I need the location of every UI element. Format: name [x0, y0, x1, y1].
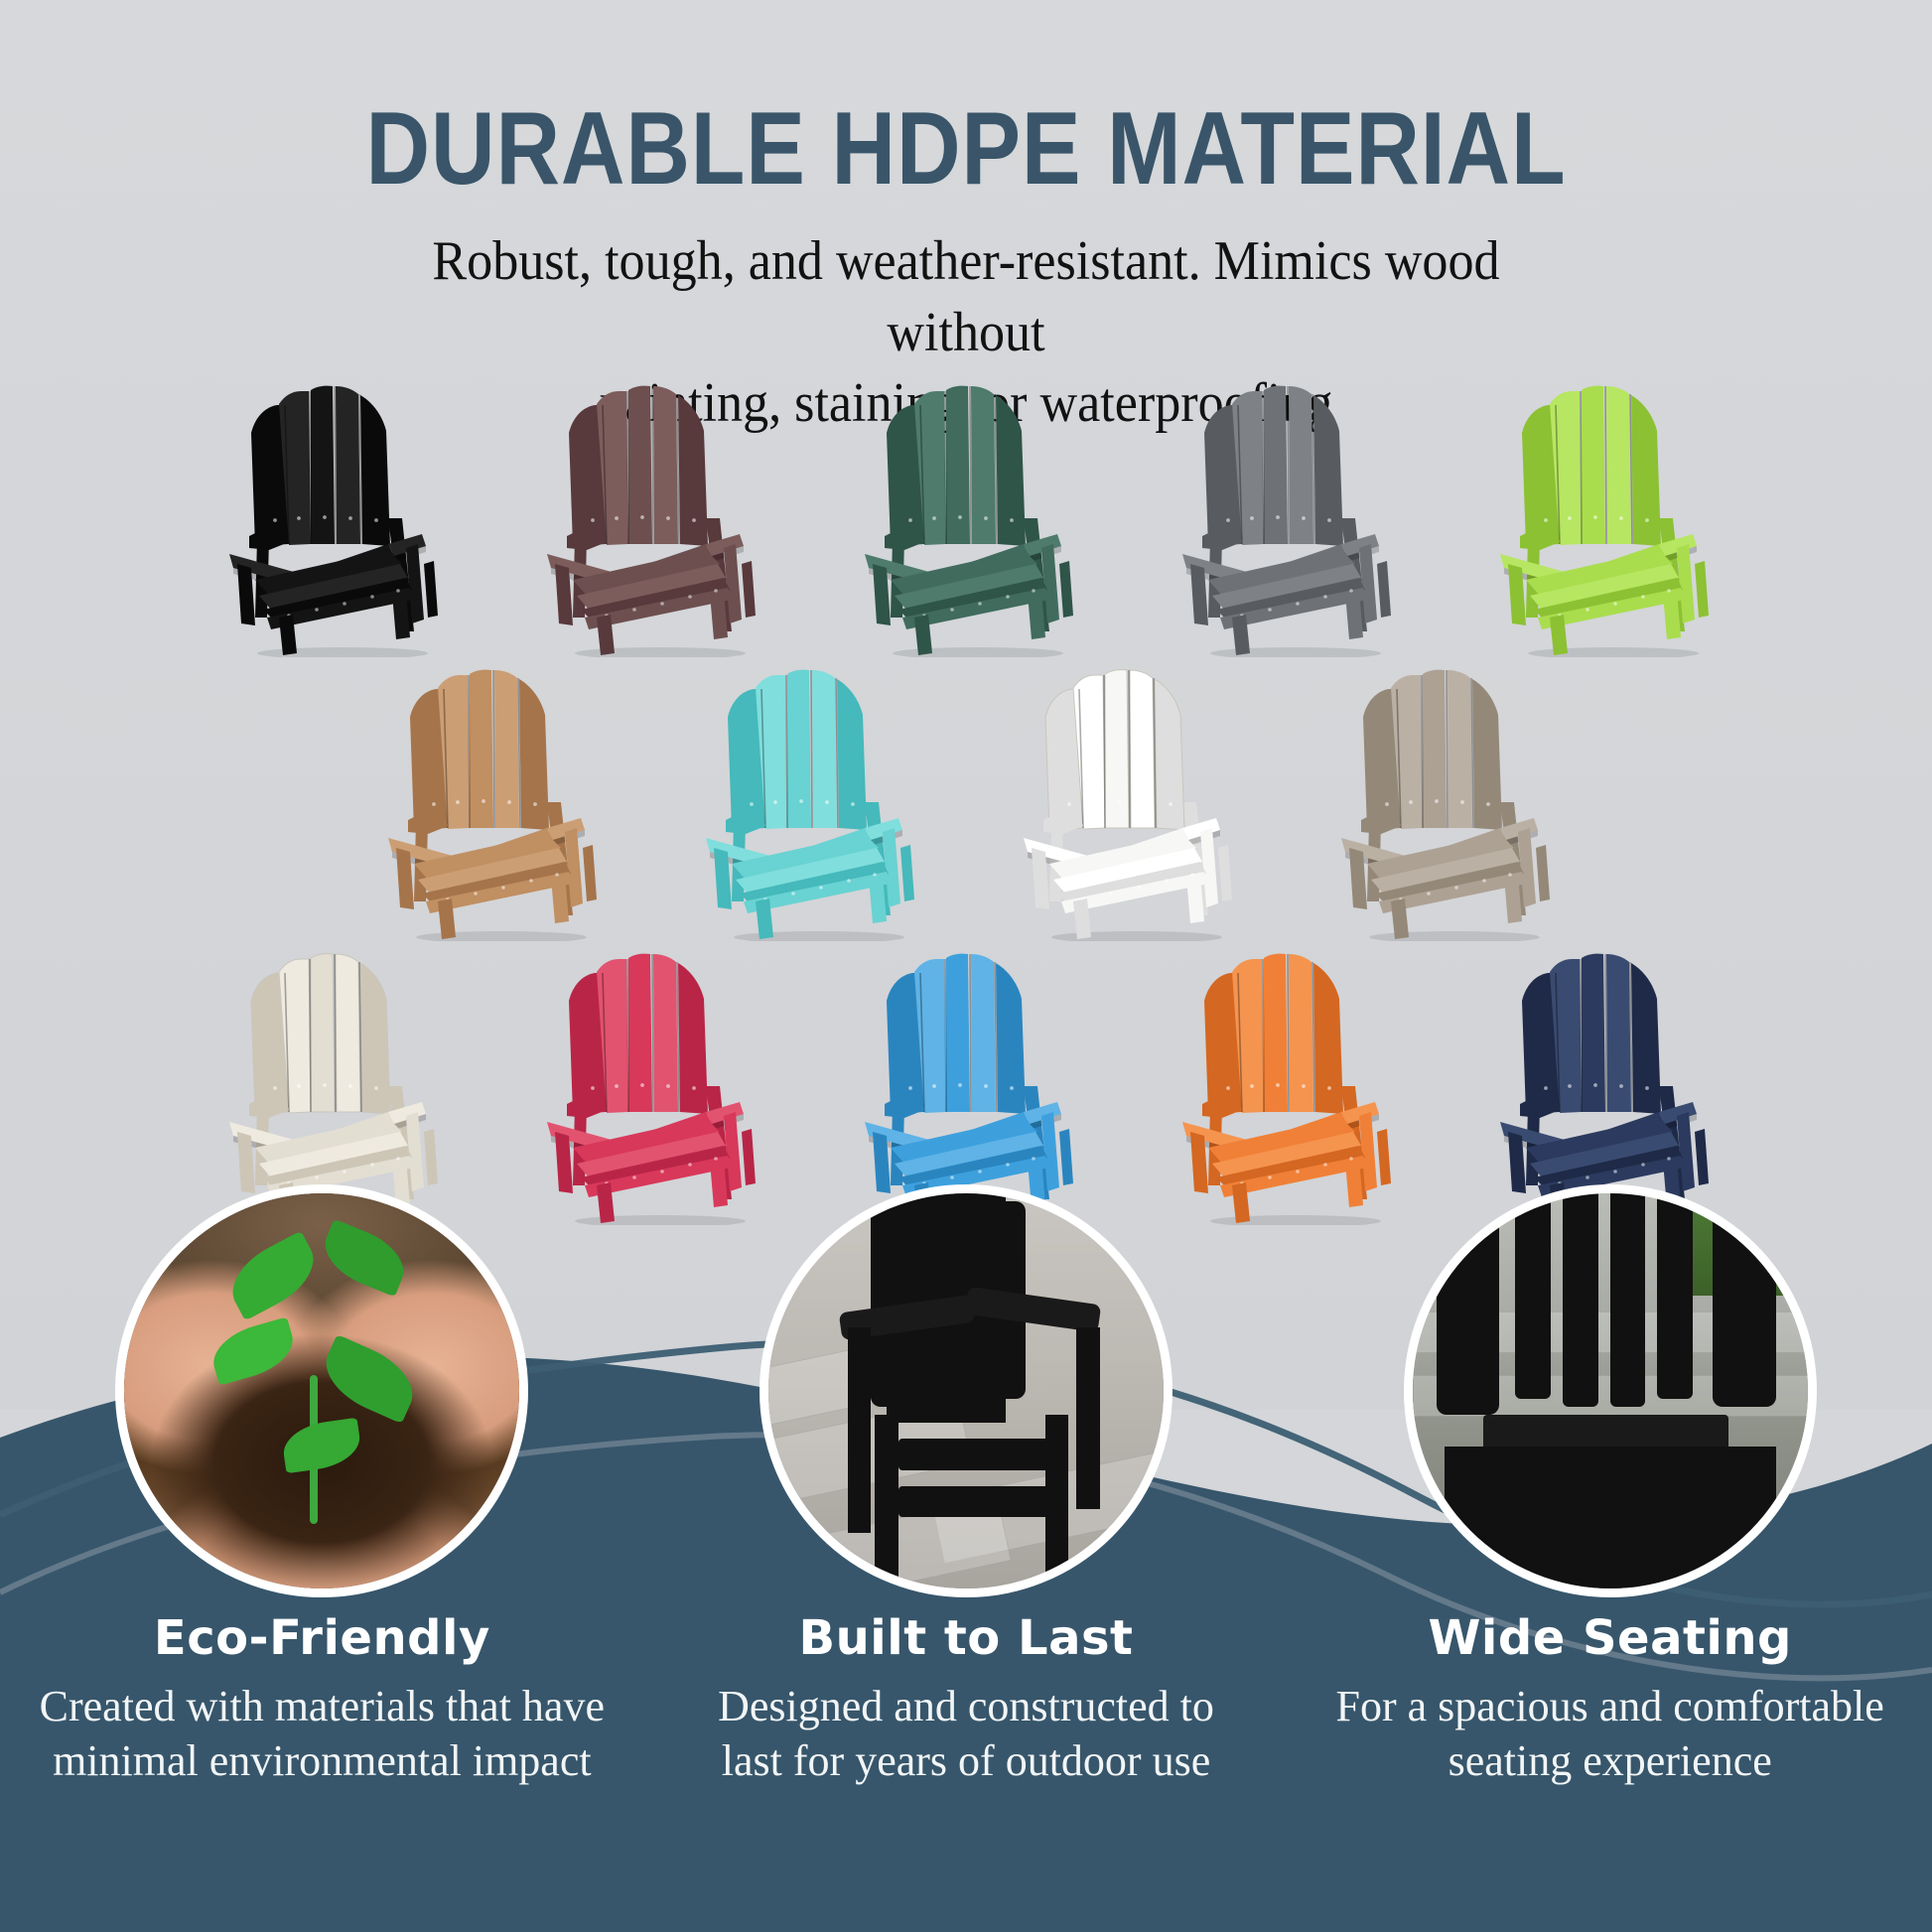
soil-hands-image [124, 1193, 519, 1588]
chair-illustration [988, 653, 1262, 941]
subtitle-line-1: Robust, tough, and weather-resistant. Mi… [412, 226, 1520, 368]
swatch-row [0, 653, 1932, 951]
chair-illustration [511, 937, 785, 1225]
feature-body-line-1: Designed and constructed to [666, 1680, 1267, 1734]
feature-body-line-2: seating experience [1310, 1734, 1910, 1789]
chair-image [1147, 937, 1421, 1225]
chair-swatch-lime-green[interactable] [1443, 369, 1760, 667]
feature-column: Built to Last Designed and constructed t… [644, 1610, 1289, 1788]
chair-image [1464, 937, 1738, 1225]
chair-illustration [829, 937, 1103, 1225]
chair-swatch-white[interactable] [966, 653, 1284, 951]
wide-seating-photo [1404, 1184, 1817, 1597]
chair-swatch-orange[interactable] [1125, 937, 1443, 1235]
chair-image [352, 653, 626, 941]
feature-body-line-2: last for years of outdoor use [666, 1734, 1267, 1789]
chair-image [511, 369, 785, 657]
chair-illustration [1147, 937, 1421, 1225]
chair-image [1147, 369, 1421, 657]
black-chair-seat-closeup-image [1413, 1193, 1808, 1588]
feature-title: Wide Seating [1310, 1610, 1910, 1666]
chair-swatch-black[interactable] [172, 369, 489, 667]
chair-image [829, 369, 1103, 657]
feature-body: Designed and constructed to last for yea… [666, 1680, 1267, 1788]
chair-illustration [1306, 653, 1580, 941]
chair-image [511, 937, 785, 1225]
chair-swatch-teak[interactable] [331, 653, 648, 951]
chair-swatch-dark-green[interactable] [807, 369, 1125, 667]
chair-image [670, 653, 944, 941]
chair-image [1306, 653, 1580, 941]
chair-swatch-brown[interactable] [489, 369, 807, 667]
feature-title: Built to Last [666, 1610, 1267, 1666]
feature-body-line-1: Created with materials that have [22, 1680, 622, 1734]
eco-friendly-photo [115, 1184, 528, 1597]
chair-swatch-khaki[interactable] [1284, 653, 1601, 951]
built-to-last-photo [759, 1184, 1173, 1597]
chair-swatch-red[interactable] [489, 937, 807, 1235]
chair-illustration [1464, 369, 1738, 657]
chair-illustration [829, 369, 1103, 657]
product-infographic: DURABLE HDPE MATERIAL Robust, tough, and… [0, 0, 1932, 1932]
chair-image [988, 653, 1262, 941]
chair-image [829, 937, 1103, 1225]
color-swatch-grid [0, 369, 1932, 1235]
feature-body-line-1: For a spacious and comfortable [1310, 1680, 1910, 1734]
chair-image [1464, 369, 1738, 657]
chair-illustration [511, 369, 785, 657]
swatch-row [0, 369, 1932, 667]
feature-body: For a spacious and comfortable seating e… [1310, 1680, 1910, 1788]
feature-title: Eco-Friendly [22, 1610, 622, 1666]
feature-photos [0, 1184, 1932, 1611]
feature-column: Wide Seating For a spacious and comforta… [1288, 1610, 1932, 1788]
chair-image [194, 937, 468, 1225]
feature-column: Eco-Friendly Created with materials that… [0, 1610, 644, 1788]
chair-image [194, 369, 468, 657]
feature-columns: Eco-Friendly Created with materials that… [0, 1610, 1932, 1788]
feature-body: Created with materials that have minimal… [22, 1680, 622, 1788]
chair-swatch-turquoise[interactable] [648, 653, 966, 951]
chair-illustration [194, 937, 468, 1225]
page-title: DURABLE HDPE MATERIAL [135, 95, 1797, 204]
black-chair-patio-image [768, 1193, 1164, 1588]
chair-illustration [194, 369, 468, 657]
chair-illustration [352, 653, 626, 941]
feature-body-line-2: minimal environmental impact [22, 1734, 622, 1789]
chair-illustration [670, 653, 944, 941]
chair-swatch-gray[interactable] [1125, 369, 1443, 667]
chair-illustration [1147, 369, 1421, 657]
chair-illustration [1464, 937, 1738, 1225]
